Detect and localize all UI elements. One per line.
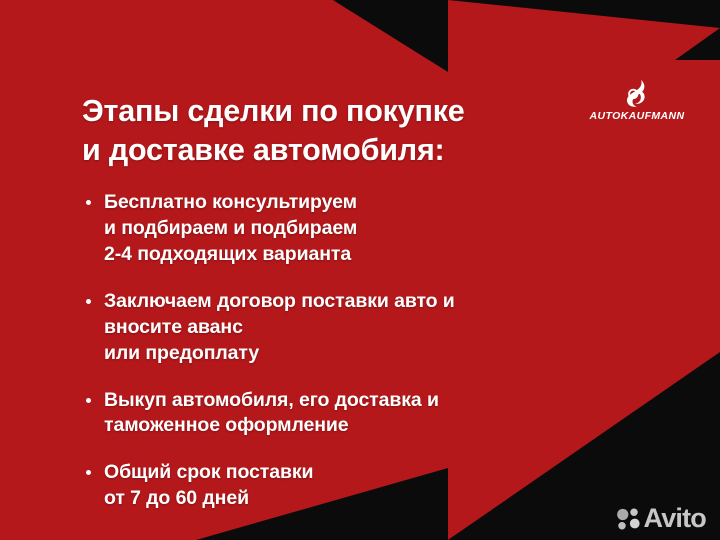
list-item: Заключаем договор поставки авто и вносит… (82, 289, 642, 367)
step-line: от 7 до 60 дней (104, 486, 642, 512)
list-item: Общий срок поставки от 7 до 60 дней (82, 460, 642, 512)
bullet-dot-icon (86, 299, 91, 304)
step-line: и подбираем и подбираем (104, 216, 642, 242)
bullet-dot-icon (86, 470, 91, 475)
avito-dots-icon (616, 507, 640, 531)
step-line: таможенное оформление (104, 413, 642, 439)
step-line: Общий срок поставки (104, 460, 642, 486)
page-title-line-1: Этапы сделки по покупке (82, 92, 602, 131)
step-line: Выкуп автомобиля, его доставка и (104, 388, 642, 414)
bullet-dot-icon (86, 200, 91, 205)
steps-list: Бесплатно консультируем и подбираем и по… (82, 190, 642, 512)
step-line: Бесплатно консультируем (104, 190, 642, 216)
bullet-dot-icon (86, 398, 91, 403)
step-line: вносите аванс (104, 315, 642, 341)
page-title: Этапы сделки по покупке и доставке автом… (82, 92, 602, 170)
avito-watermark: Avito (616, 505, 707, 532)
list-item: Выкуп автомобиля, его доставка и таможен… (82, 388, 642, 440)
flame-swoosh-icon (622, 78, 652, 108)
brand-logo: AUTOKAUFMANN (585, 78, 689, 122)
step-line: или предоплату (104, 341, 642, 367)
poster-content: Этапы сделки по покупке и доставке автом… (0, 0, 720, 540)
brand-name: AUTOKAUFMANN (585, 110, 689, 122)
step-line: Заключаем договор поставки авто и (104, 289, 642, 315)
avito-wordmark: Avito (644, 505, 707, 532)
step-line: 2-4 подходящих варианта (104, 242, 642, 268)
page-title-line-2: и доставке автомобиля: (82, 131, 602, 170)
promo-poster: Этапы сделки по покупке и доставке автом… (0, 0, 720, 540)
list-item: Бесплатно консультируем и подбираем и по… (82, 190, 642, 268)
